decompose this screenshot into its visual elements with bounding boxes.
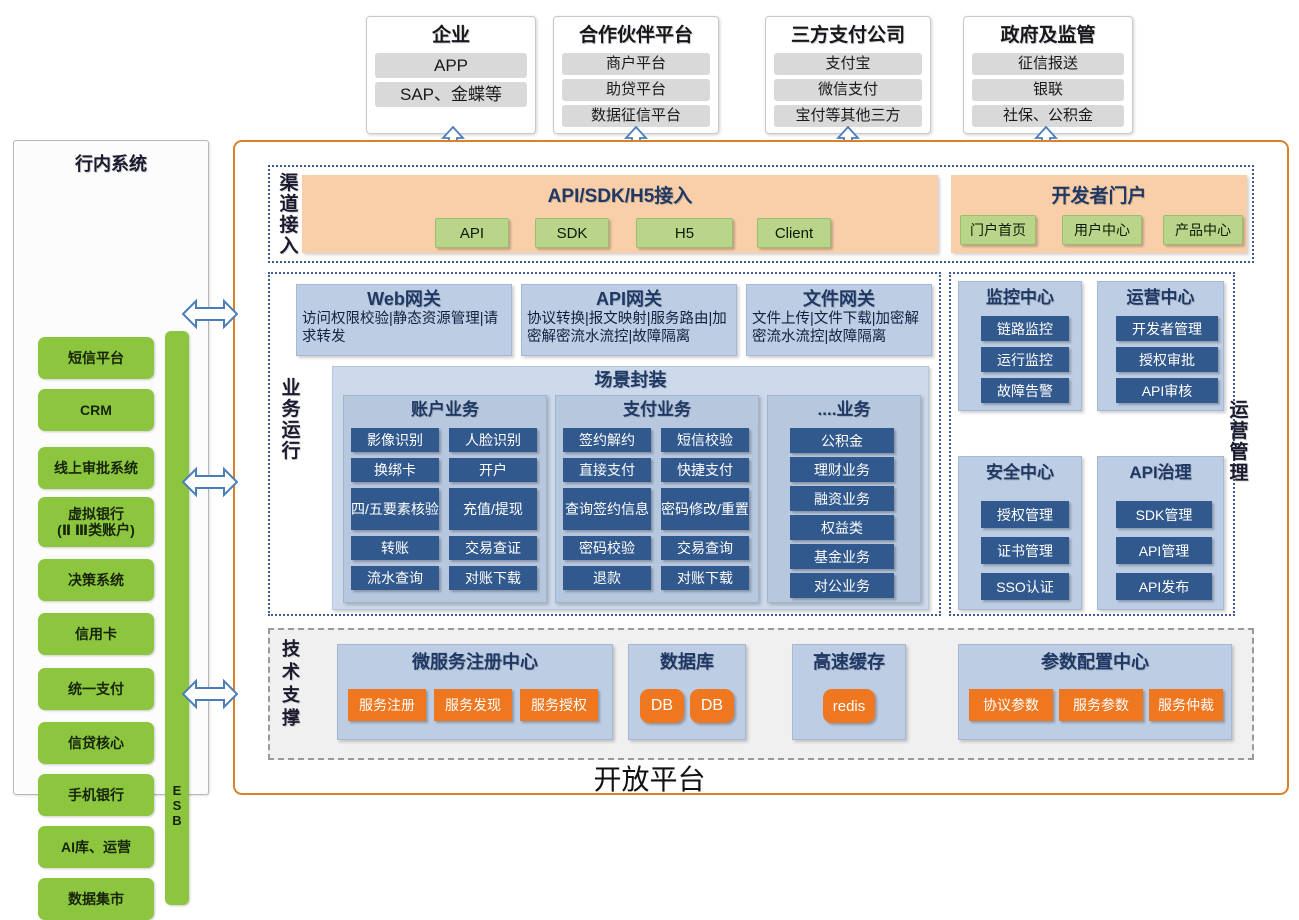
in-bank-title: 行内系统	[14, 150, 208, 176]
biz-chip-payment-4[interactable]: 查询签约信息	[563, 488, 651, 530]
external-chip[interactable]: 微信支付	[774, 79, 922, 101]
biz-chip-other-1[interactable]: 理财业务	[790, 457, 894, 482]
external-box-partner[interactable]: 合作伙伴平台 商户平台 助贷平台 数据征信平台	[553, 16, 719, 134]
biz-chip-other-3[interactable]: 权益类	[790, 515, 894, 540]
tech-box-database: 数据库 DB DB	[628, 644, 746, 740]
tech-chip-service-arbitration[interactable]: 服务仲裁	[1149, 689, 1223, 721]
biz-chip-account-2[interactable]: 换绑卡	[351, 458, 439, 482]
in-bank-systems-panel: 行内系统 ESB 短信平台 CRM 线上审批系统 虚拟银行 (Ⅱ Ⅲ类账户) 决…	[13, 140, 209, 795]
gateway-box-web[interactable]: Web网关 访问权限校验|静态资源管理|请求转发	[296, 284, 512, 356]
in-bank-item-5[interactable]: 信用卡	[38, 613, 154, 655]
external-chip[interactable]: 征信报送	[972, 53, 1124, 75]
biz-column-title: ....业务	[768, 396, 920, 422]
ops-chip-operation-0[interactable]: 开发者管理	[1116, 316, 1218, 341]
biz-column-payment: 支付业务 签约解约 短信校验 直接支付 快捷支付 查询签约信息 密码修改/重置 …	[555, 395, 759, 603]
ops-box-title: 安全中心	[959, 457, 1081, 485]
ops-box-title: 监控中心	[959, 282, 1081, 310]
tech-chip-service-discovery[interactable]: 服务发现	[434, 689, 512, 721]
biz-chip-other-2[interactable]: 融资业务	[790, 486, 894, 511]
ops-chip-api-2[interactable]: API发布	[1116, 573, 1212, 600]
tech-box-cache: 高速缓存 redis	[792, 644, 906, 740]
biz-column-title: 支付业务	[556, 396, 758, 422]
tech-chip-protocol-param[interactable]: 协议参数	[969, 689, 1053, 721]
tech-chip-db-0[interactable]: DB	[640, 689, 684, 723]
tech-chip-db-1[interactable]: DB	[690, 689, 734, 723]
biz-chip-payment-3[interactable]: 快捷支付	[661, 458, 749, 482]
in-bank-item-0[interactable]: 短信平台	[38, 337, 154, 379]
external-chip[interactable]: SAP、金蝶等	[375, 82, 527, 107]
biz-chip-payment-6[interactable]: 密码校验	[563, 536, 651, 560]
biz-chip-account-0[interactable]: 影像识别	[351, 428, 439, 452]
ops-chip-monitor-1[interactable]: 运行监控	[981, 347, 1069, 372]
external-chip[interactable]: APP	[375, 53, 527, 78]
biz-chip-other-0[interactable]: 公积金	[790, 428, 894, 453]
connector-arrow-esb-tech	[182, 674, 238, 714]
tech-box-title: 数据库	[629, 645, 745, 675]
ops-chip-monitor-0[interactable]: 链路监控	[981, 316, 1069, 341]
in-bank-item-10[interactable]: 数据集市	[38, 878, 154, 920]
biz-chip-payment-0[interactable]: 签约解约	[563, 428, 651, 452]
tech-box-title: 微服务注册中心	[338, 645, 612, 675]
biz-chip-payment-7[interactable]: 交易查询	[661, 536, 749, 560]
ops-chip-api-0[interactable]: SDK管理	[1116, 501, 1212, 528]
in-bank-item-3[interactable]: 虚拟银行 (Ⅱ Ⅲ类账户)	[38, 497, 154, 547]
external-chip[interactable]: 社保、公积金	[972, 105, 1124, 127]
ops-chip-security-2[interactable]: SSO认证	[981, 573, 1069, 600]
portal-chip-product-center[interactable]: 产品中心	[1163, 215, 1243, 245]
tech-box-title: 高速缓存	[793, 645, 905, 675]
biz-chip-payment-8[interactable]: 退款	[563, 566, 651, 590]
biz-chip-account-8[interactable]: 流水查询	[351, 566, 439, 590]
ops-chip-security-0[interactable]: 授权管理	[981, 501, 1069, 528]
portal-chip-user-center[interactable]: 用户中心	[1062, 215, 1142, 245]
portal-chip-home[interactable]: 门户首页	[960, 215, 1036, 245]
ops-chip-api-1[interactable]: API管理	[1116, 537, 1212, 564]
ops-box-title: 运营中心	[1098, 282, 1223, 310]
platform-title: 开放平台	[0, 758, 1299, 798]
external-box-title: 政府及监管	[972, 23, 1124, 49]
biz-column-other: ....业务 公积金 理财业务 融资业务 权益类 基金业务 对公业务	[767, 395, 921, 603]
channel-chip-client[interactable]: Client	[757, 218, 831, 248]
ops-chip-security-1[interactable]: 证书管理	[981, 537, 1069, 564]
biz-chip-account-7[interactable]: 交易查证	[449, 536, 537, 560]
scenario-encapsulation-box: 场景封装 账户业务 影像识别 人脸识别 换绑卡 开户 四/五要素核验 充值/提现…	[332, 366, 929, 610]
ops-box-monitoring: 监控中心 链路监控 运行监控 故障告警	[958, 281, 1082, 411]
biz-chip-payment-5[interactable]: 密码修改/重置	[661, 488, 749, 530]
api-sdk-h5-access-title: API/SDK/H5接入	[302, 175, 938, 208]
gateway-title: API网关	[527, 287, 731, 311]
tech-chip-service-authorize[interactable]: 服务授权	[520, 689, 598, 721]
tech-chip-redis[interactable]: redis	[823, 689, 875, 723]
biz-chip-account-5[interactable]: 充值/提现	[449, 488, 537, 530]
external-chip[interactable]: 助贷平台	[562, 79, 710, 101]
ops-box-api-governance: API治理 SDK管理 API管理 API发布	[1097, 456, 1224, 610]
ops-box-operation-center: 运营中心 开发者管理 授权审批 API审核	[1097, 281, 1224, 411]
in-bank-item-1[interactable]: CRM	[38, 389, 154, 431]
ops-chip-monitor-2[interactable]: 故障告警	[981, 378, 1069, 403]
in-bank-item-4[interactable]: 决策系统	[38, 559, 154, 601]
biz-column-account: 账户业务 影像识别 人脸识别 换绑卡 开户 四/五要素核验 充值/提现 转账 交…	[343, 395, 547, 603]
external-chip[interactable]: 支付宝	[774, 53, 922, 75]
business-run-label: 业务运行	[278, 378, 304, 470]
tech-box-config-center: 参数配置中心 协议参数 服务参数 服务仲裁	[958, 644, 1232, 740]
in-bank-item-6[interactable]: 统一支付	[38, 668, 154, 710]
gateway-title: Web网关	[302, 287, 506, 311]
ops-box-title: API治理	[1098, 457, 1223, 485]
ops-chip-operation-1[interactable]: 授权审批	[1116, 347, 1218, 372]
external-box-government[interactable]: 政府及监管 征信报送 银联 社保、公积金	[963, 16, 1133, 134]
developer-portal-title: 开发者门户	[951, 175, 1247, 208]
in-bank-item-9[interactable]: AI库、运营	[38, 826, 154, 868]
tech-chip-service-param[interactable]: 服务参数	[1059, 689, 1143, 721]
channel-access-label: 渠道接入	[276, 173, 302, 257]
external-box-enterprise[interactable]: 企业 APP SAP、金蝶等	[366, 16, 536, 134]
biz-chip-account-6[interactable]: 转账	[351, 536, 439, 560]
external-chip[interactable]: 商户平台	[562, 53, 710, 75]
gateway-title: 文件网关	[752, 287, 926, 311]
ops-box-security: 安全中心 授权管理 证书管理 SSO认证	[958, 456, 1082, 610]
external-box-thirdparty-payment[interactable]: 三方支付公司 支付宝 微信支付 宝付等其他三方	[765, 16, 931, 134]
biz-chip-account-3[interactable]: 开户	[449, 458, 537, 482]
biz-chip-other-5[interactable]: 对公业务	[790, 573, 894, 598]
external-box-title: 三方支付公司	[774, 23, 922, 49]
esb-bus[interactable]: ESB	[165, 331, 189, 905]
in-bank-item-2[interactable]: 线上审批系统	[38, 447, 154, 489]
external-box-title: 企业	[375, 23, 527, 49]
operations-management-label: 运营管理	[1226, 400, 1252, 492]
biz-chip-other-4[interactable]: 基金业务	[790, 544, 894, 569]
gateway-desc: 协议转换|报文映射|服务路由|加密解密流水流控|故障隔离	[527, 311, 731, 346]
gateway-box-api[interactable]: API网关 协议转换|报文映射|服务路由|加密解密流水流控|故障隔离	[521, 284, 737, 356]
ops-chip-operation-2[interactable]: API审核	[1116, 378, 1218, 403]
channel-chip-api[interactable]: API	[435, 218, 509, 248]
external-chip[interactable]: 银联	[972, 79, 1124, 101]
external-box-title: 合作伙伴平台	[562, 23, 710, 49]
channel-chip-h5[interactable]: H5	[636, 218, 733, 248]
gateway-desc: 文件上传|文件下载|加密解密流水流控|故障隔离	[752, 311, 926, 346]
connector-arrow-esb-business	[182, 294, 238, 334]
external-chip[interactable]: 数据征信平台	[562, 105, 710, 127]
tech-chip-service-register[interactable]: 服务注册	[348, 689, 426, 721]
scenario-title: 场景封装	[333, 367, 928, 393]
gateway-box-file[interactable]: 文件网关 文件上传|文件下载|加密解密流水流控|故障隔离	[746, 284, 932, 356]
external-chip[interactable]: 宝付等其他三方	[774, 105, 922, 127]
gateway-desc: 访问权限校验|静态资源管理|请求转发	[302, 311, 506, 346]
tech-box-title: 参数配置中心	[959, 645, 1231, 675]
biz-chip-account-1[interactable]: 人脸识别	[449, 428, 537, 452]
tech-support-label: 技术支撑	[278, 638, 304, 730]
biz-chip-payment-1[interactable]: 短信校验	[661, 428, 749, 452]
biz-column-title: 账户业务	[344, 396, 546, 422]
biz-chip-account-4[interactable]: 四/五要素核验	[351, 488, 439, 530]
channel-chip-sdk[interactable]: SDK	[535, 218, 609, 248]
tech-box-microservice-registry: 微服务注册中心 服务注册 服务发现 服务授权	[337, 644, 613, 740]
api-sdk-h5-access-box: API/SDK/H5接入	[302, 175, 938, 253]
biz-chip-payment-9[interactable]: 对账下载	[661, 566, 749, 590]
biz-chip-payment-2[interactable]: 直接支付	[563, 458, 651, 482]
connector-arrow-esb-scenario	[182, 462, 238, 502]
biz-chip-account-9[interactable]: 对账下载	[449, 566, 537, 590]
